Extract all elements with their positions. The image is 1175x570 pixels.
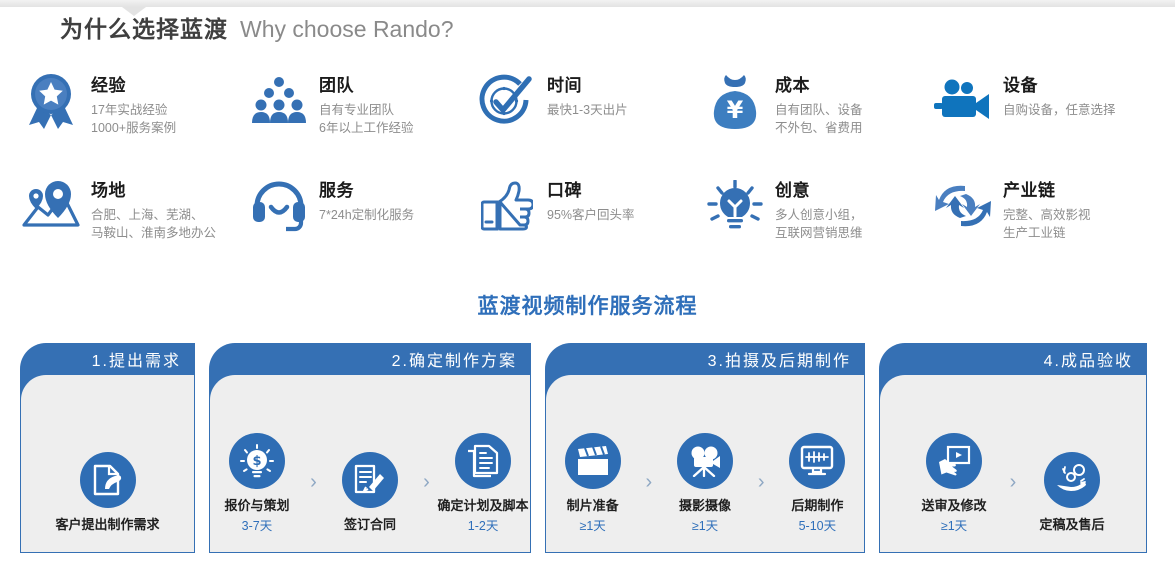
process-step-label: 摄影摄像	[679, 498, 731, 515]
process-card-header-label: 4.成品验收	[1044, 347, 1133, 371]
process-card-body: 制片准备≥1天›摄影摄像≥1天›后期制作5-10天	[545, 375, 865, 553]
feature-title: 场地	[91, 181, 216, 201]
feature-text: 时间最快1-3天出片	[547, 68, 628, 119]
process-cards: 1.提出需求客户提出制作需求2.确定制作方案$报价与策划3-7天›签订合同›确定…	[20, 343, 1147, 553]
card-corner-notch-icon	[20, 374, 51, 405]
feature-item-服务: 服务7*24h定制化服务	[250, 173, 478, 278]
process-step[interactable]: 制片准备≥1天	[546, 433, 639, 536]
feature-desc: 完整、高效影视 生产工业链	[1003, 206, 1091, 244]
feature-title: 经验	[91, 76, 176, 96]
process-card-body: 送审及修改≥1天›定稿及售后	[879, 375, 1147, 553]
feature-text: 场地合肥、上海、芜湖、 马鞍山、淮南多地办公	[91, 173, 216, 243]
feature-desc: 17年实战经验 1000+服务案例	[91, 101, 176, 139]
process-step[interactable]: 客户提出制作需求	[59, 452, 157, 536]
movie-camera-icon	[677, 433, 733, 489]
process-step-duration: 5-10天	[799, 517, 837, 536]
process-step[interactable]: 定稿及售后	[1023, 452, 1121, 536]
process-card-header-label: 2.确定制作方案	[392, 347, 517, 371]
thumbs-up-icon	[478, 177, 536, 235]
process-section-title: 蓝渡视频制作服务流程	[0, 290, 1175, 320]
feature-item-创意: 创意多人创意小组， 互联网营销思维	[706, 173, 934, 278]
feature-text: 创意多人创意小组， 互联网营销思维	[775, 173, 863, 243]
process-card-header-label: 1.提出需求	[92, 347, 181, 371]
feature-text: 设备自购设备，任意选择	[1003, 68, 1116, 119]
svg-text:¥: ¥	[727, 96, 744, 124]
feature-title: 成本	[775, 76, 863, 96]
feature-desc: 自有团队、设备 不外包、省费用	[775, 101, 863, 139]
lightbulb-icon	[706, 177, 764, 235]
process-card-3[interactable]: 3.拍摄及后期制作制片准备≥1天›摄影摄像≥1天›后期制作5-10天	[545, 343, 865, 553]
feature-text: 产业链完整、高效影视 生产工业链	[1003, 173, 1091, 243]
process-step-label: 后期制作	[791, 498, 843, 515]
feature-desc: 7*24h定制化服务	[319, 206, 414, 225]
page-root: 为什么选择蓝渡Why choose Rando? 经验17年实战经验 1000+…	[0, 0, 1175, 570]
process-step-label: 制片准备	[567, 498, 619, 515]
page-title: 为什么选择蓝渡Why choose Rando?	[60, 10, 454, 44]
feature-text: 口碑95%客户回头率	[547, 173, 635, 224]
contract-sign-icon	[342, 452, 398, 508]
process-step-label: 送审及修改	[921, 498, 986, 515]
feature-text: 成本自有团队、设备 不外包、省费用	[775, 68, 863, 138]
feature-item-口碑: 口碑95%客户回头率	[478, 173, 706, 278]
process-step[interactable]: 送审及修改≥1天	[905, 433, 1003, 536]
process-step-list: $报价与策划3-7天›签订合同›确定计划及脚本1-2天	[210, 433, 530, 536]
process-step-duration: 3-7天	[242, 517, 273, 536]
headset-icon	[250, 177, 308, 235]
process-step[interactable]: $报价与策划3-7天	[210, 433, 304, 536]
chevron-right-icon: ›	[417, 472, 436, 536]
recycle-arrows-icon	[934, 177, 992, 235]
process-card-body: 客户提出制作需求	[20, 375, 195, 553]
card-corner-notch-icon	[545, 374, 576, 405]
money-bag-icon: ¥	[706, 72, 764, 130]
page-title-cn: 为什么选择蓝渡	[60, 16, 228, 42]
feature-title: 口碑	[547, 181, 635, 201]
process-card-body: $报价与策划3-7天›签订合同›确定计划及脚本1-2天	[209, 375, 531, 553]
feature-title: 团队	[319, 76, 413, 96]
process-step-list: 制片准备≥1天›摄影摄像≥1天›后期制作5-10天	[546, 433, 864, 536]
feature-title: 设备	[1003, 76, 1116, 96]
feature-title: 服务	[319, 181, 414, 201]
feature-desc: 自有专业团队 6年以上工作经验	[319, 101, 413, 139]
hand-coins-icon	[1044, 452, 1100, 508]
feature-desc: 合肥、上海、芜湖、 马鞍山、淮南多地办公	[91, 206, 216, 244]
process-card-header: 4.成品验收	[879, 343, 1147, 375]
feature-item-经验: 经验17年实战经验 1000+服务案例	[22, 68, 250, 173]
page-title-en: Why choose Rando?	[240, 16, 454, 42]
process-step-label: 定稿及售后	[1039, 517, 1104, 534]
medal-star-icon	[22, 72, 80, 130]
process-card-header: 2.确定制作方案	[209, 343, 531, 375]
process-step-duration: ≥1天	[692, 517, 718, 536]
script-docs-icon	[455, 433, 511, 489]
feature-item-时间: 时间最快1-3天出片	[478, 68, 706, 173]
process-step-label: 签订合同	[344, 517, 396, 534]
feature-desc: 多人创意小组， 互联网营销思维	[775, 206, 863, 244]
feature-desc: 95%客户回头率	[547, 206, 635, 225]
feature-item-设备: 设备自购设备，任意选择	[934, 68, 1162, 173]
feature-text: 服务7*24h定制化服务	[319, 173, 414, 224]
bulb-dollar-icon: $	[229, 433, 285, 489]
feature-grid: 经验17年实战经验 1000+服务案例团队自有专业团队 6年以上工作经验时间最快…	[22, 68, 1162, 278]
feature-item-产业链: 产业链完整、高效影视 生产工业链	[934, 173, 1162, 278]
feature-item-场地: 场地合肥、上海、芜湖、 马鞍山、淮南多地办公	[22, 173, 250, 278]
top-decorative-bar	[0, 0, 1175, 7]
monitor-edit-icon	[789, 433, 845, 489]
map-pin-icon	[22, 177, 80, 235]
feature-title: 产业链	[1003, 181, 1091, 201]
card-corner-notch-icon	[209, 374, 240, 405]
process-step-duration: 1-2天	[468, 517, 499, 536]
team-people-icon	[250, 72, 308, 130]
svg-text:$: $	[252, 454, 261, 469]
process-step-list: 客户提出制作需求	[21, 452, 194, 536]
chevron-right-icon: ›	[1003, 472, 1023, 536]
process-card-header-label: 3.拍摄及后期制作	[708, 347, 851, 371]
process-step-label: 确定计划及脚本	[438, 498, 529, 515]
process-step-list: 送审及修改≥1天›定稿及售后	[880, 433, 1146, 536]
process-step[interactable]: 确定计划及脚本1-2天	[436, 433, 530, 536]
process-step[interactable]: 签订合同	[323, 452, 417, 536]
process-card-2[interactable]: 2.确定制作方案$报价与策划3-7天›签订合同›确定计划及脚本1-2天	[209, 343, 531, 553]
chevron-right-icon: ›	[752, 472, 771, 536]
process-step-label: 报价与策划	[224, 498, 289, 515]
process-card-4[interactable]: 4.成品验收送审及修改≥1天›定稿及售后	[879, 343, 1147, 553]
process-step-duration: ≥1天	[579, 517, 605, 536]
process-step-label: 客户提出制作需求	[56, 517, 160, 534]
document-pen-icon	[80, 452, 136, 508]
process-step[interactable]: 摄影摄像≥1天	[658, 433, 751, 536]
feature-text: 经验17年实战经验 1000+服务案例	[91, 68, 176, 138]
handshake-screen-icon	[926, 433, 982, 489]
feature-title: 创意	[775, 181, 863, 201]
card-corner-notch-icon	[879, 374, 910, 405]
process-step[interactable]: 后期制作5-10天	[771, 433, 864, 536]
chevron-right-icon: ›	[304, 472, 323, 536]
feature-desc: 自购设备，任意选择	[1003, 101, 1116, 120]
feature-title: 时间	[547, 76, 628, 96]
feature-desc: 最快1-3天出片	[547, 101, 628, 120]
process-card-header: 1.提出需求	[20, 343, 195, 375]
feature-item-团队: 团队自有专业团队 6年以上工作经验	[250, 68, 478, 173]
process-step-duration: ≥1天	[941, 517, 967, 536]
clock-check-icon	[478, 72, 536, 130]
clapperboard-icon	[565, 433, 621, 489]
chevron-right-icon: ›	[639, 472, 658, 536]
feature-text: 团队自有专业团队 6年以上工作经验	[319, 68, 413, 138]
video-camera-icon	[934, 72, 992, 130]
process-card-1[interactable]: 1.提出需求客户提出制作需求	[20, 343, 195, 553]
feature-item-成本: ¥成本自有团队、设备 不外包、省费用	[706, 68, 934, 173]
process-card-header: 3.拍摄及后期制作	[545, 343, 865, 375]
